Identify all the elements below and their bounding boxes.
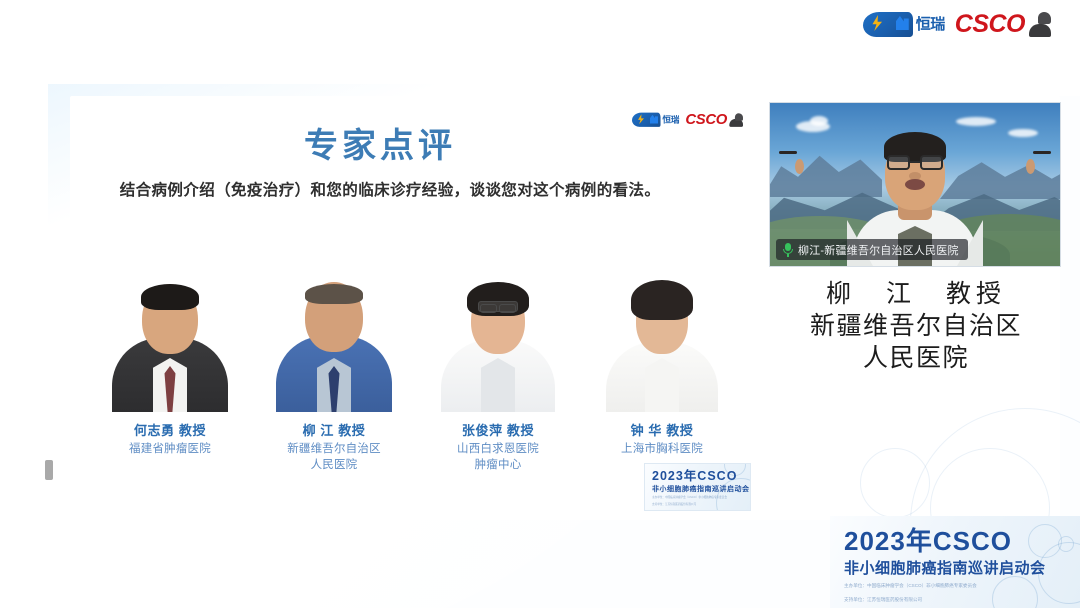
speaker-brow-right: [779, 151, 797, 154]
video-label-text: 柳江-新疆维吾尔自治区人民医院: [798, 242, 959, 258]
brand-logos-header: 恒瑞 CSCO: [863, 12, 1058, 37]
event-fineprint-1: 主办单位：中国临床肿瘤学会（CSCO）非小细胞肺癌专家委员会: [844, 583, 1080, 590]
decor-cloud: [810, 116, 828, 126]
expert-org: 福建省肿瘤医院: [129, 442, 211, 458]
brand-logos-slide: 恒瑞 CSCO: [632, 112, 746, 127]
csco-logo: CSCO: [955, 12, 1058, 37]
expert-name: 何志勇 教授: [134, 420, 206, 439]
mic-stem: [787, 254, 789, 257]
event-year: 2023年CSCO: [844, 528, 1080, 554]
event-subtitle: 非小细胞肺癌指南巡讲启动会: [844, 561, 1080, 576]
expert-portrait: [603, 262, 721, 412]
csco-rhino-icon: [1027, 12, 1058, 37]
event-fineprint-1: 主办单位：中国临床肿瘤学会（CSCO）非小细胞肺癌专家委员会: [652, 496, 750, 500]
expert-portrait: [275, 262, 393, 412]
event-banner-small: 2023年CSCO 非小细胞肺癌指南巡讲启动会 主办单位：中国临床肿瘤学会（CS…: [645, 464, 750, 510]
expert-card: 钟 华 教授 上海市胸科医院: [588, 262, 736, 477]
speaker-brow-left: [1033, 151, 1051, 154]
decor-watermark-ring: [860, 448, 930, 518]
speaker-org-line2: 人民医院: [770, 342, 1062, 374]
csco-logo-text-slide: CSCO: [685, 112, 727, 127]
portrait-hair: [631, 280, 693, 320]
hengrui-logo-slide: 恒瑞: [632, 112, 679, 126]
csco-logo-slide: CSCO: [685, 112, 745, 127]
expert-card: 柳 江 教授 新疆维吾尔自治区人民医院: [260, 262, 408, 477]
event-fineprint-2: 支持单位：江苏恒瑞医药股份有限公司: [844, 597, 1080, 604]
expert-name: 柳 江 教授: [303, 420, 366, 439]
presentation-stage: 恒瑞 CSCO 恒瑞 CSCO 专家点评 结合病例介绍（免疫治疗）和您的临床诊疗…: [0, 0, 1080, 608]
expert-name: 钟 华 教授: [631, 420, 694, 439]
speaker-ear-right: [795, 159, 804, 174]
event-fineprint-2: 支持单位：江苏恒瑞医药股份有限公司: [652, 503, 750, 507]
speaker-caption: 柳 江 教授 新疆维吾尔自治区 人民医院: [770, 278, 1062, 374]
glasses-bridge: [910, 161, 920, 163]
decor-cloud: [1008, 129, 1038, 137]
event-year: 2023年CSCO: [652, 470, 750, 483]
expert-org: 山西白求恩医院肿瘤中心: [457, 442, 539, 473]
panel-collapse-handle[interactable]: [45, 460, 53, 480]
expert-card: 张俊萍 教授 山西白求恩医院肿瘤中心: [424, 262, 572, 477]
csco-rhino-icon-slide: [728, 113, 745, 127]
hengrui-logo-text-slide: 恒瑞: [662, 115, 679, 124]
hengrui-logo-icon: [863, 12, 913, 37]
hengrui-logo: 恒瑞: [863, 12, 945, 37]
speaker-glasses-icon: [887, 155, 943, 170]
portrait-hair: [141, 284, 199, 310]
speaker-org-line1: 新疆维吾尔自治区: [770, 310, 1062, 342]
hengrui-logo-text: 恒瑞: [916, 17, 945, 32]
expert-name: 张俊萍 教授: [462, 420, 534, 439]
expert-org: 新疆维吾尔自治区人民医院: [287, 442, 381, 473]
speaker-mouth: [905, 179, 925, 190]
glasses-lens-left: [887, 155, 910, 170]
event-subtitle: 非小细胞肺癌指南巡讲启动会: [652, 486, 750, 493]
expert-card: 何志勇 教授 福建省肿瘤医院: [96, 262, 244, 477]
portrait-shirt: [645, 358, 679, 412]
csco-logo-text: CSCO: [955, 12, 1025, 37]
expert-portrait: [439, 262, 557, 412]
speaker-ear-left: [1026, 159, 1035, 174]
microphone-icon[interactable]: [782, 243, 793, 257]
video-name-label: 柳江-新疆维吾尔自治区人民医院: [776, 239, 968, 260]
expert-org: 上海市胸科医院: [621, 442, 703, 458]
portrait-shirt: [481, 358, 515, 412]
slide-subtitle: 结合病例介绍（免疫治疗）和您的临床诊疗经验，谈谈您对这个病例的看法。: [0, 178, 780, 200]
glasses-lens-right: [920, 155, 943, 170]
video-tile-speaker[interactable]: 柳江-新疆维吾尔自治区人民医院: [770, 103, 1060, 266]
speaker-name: 柳 江 教授: [770, 278, 1062, 310]
decor-cloud: [956, 117, 996, 126]
event-banner-main: 2023年CSCO 非小细胞肺癌指南巡讲启动会 主办单位：中国临床肿瘤学会（CS…: [830, 516, 1080, 608]
expert-list: 何志勇 教授 福建省肿瘤医院 柳 江 教授 新疆维吾尔自治区人民医院 张: [96, 262, 736, 477]
hengrui-logo-icon-slide: [632, 112, 661, 126]
portrait-glasses-icon: [478, 301, 518, 312]
portrait-hair: [305, 284, 363, 304]
expert-portrait: [111, 262, 229, 412]
